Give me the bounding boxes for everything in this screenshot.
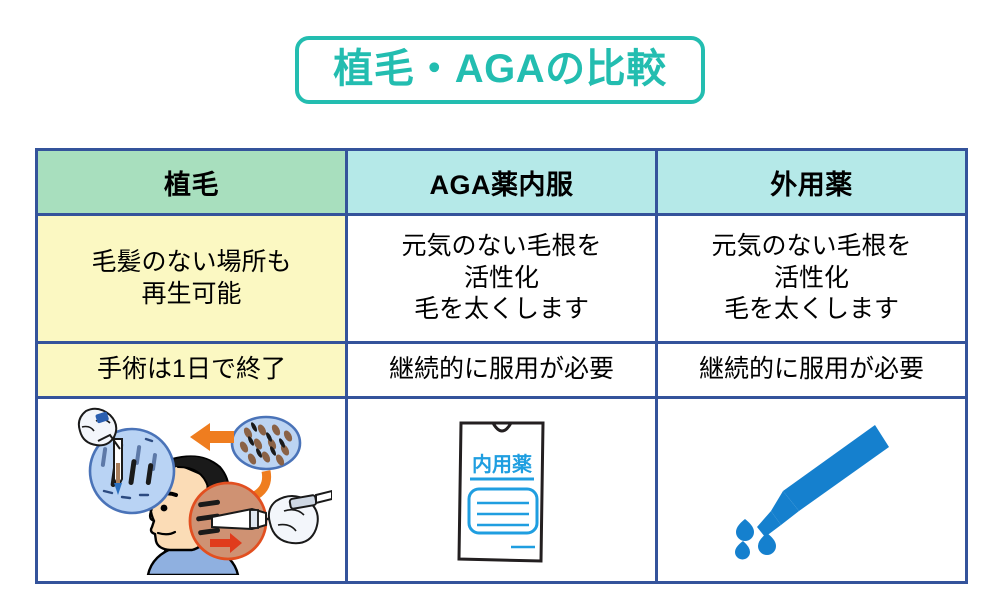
column-header-topical: 外用薬 (657, 150, 967, 215)
cell-line: 再生可能 (38, 279, 345, 311)
table-row-illustrations: 内用薬 (37, 398, 967, 583)
cell-line: 元気のない毛根を (658, 231, 965, 263)
column-header-shokumou: 植毛 (37, 150, 347, 215)
cell-shokumou-illustration (37, 398, 347, 583)
transfer-arrow-left (190, 423, 234, 451)
comparison-table-container: 植毛 AGA薬内服 外用薬 毛髪のない場所も 再生可能 元気のない毛根を 活性化 (35, 148, 965, 584)
envelope-label-text: 内用薬 (472, 452, 532, 476)
table-row: 毛髪のない場所も 再生可能 元気のない毛根を 活性化 毛を太くします 元気のない… (37, 215, 967, 343)
cell-shokumou-duration: 手術は1日で終了 (37, 343, 347, 398)
cell-line: 活性化 (348, 263, 655, 295)
hair-transplant-illustration (38, 399, 345, 581)
donor-graft-circle (232, 417, 300, 469)
gloved-hand-implanter (268, 491, 331, 543)
topical-dropper-icon (727, 415, 897, 565)
cell-line: 活性化 (658, 263, 965, 295)
page-title-box: 植毛・AGAの比較 (295, 36, 704, 104)
cell-line: 元気のない毛根を (348, 231, 655, 263)
cell-shokumou-effect: 毛髪のない場所も 再生可能 (37, 215, 347, 343)
table-row: 手術は1日で終了 継続的に服用が必要 継続的に服用が必要 (37, 343, 967, 398)
hair-transplant-icon (52, 405, 332, 575)
medicine-envelope-icon: 内用薬 (437, 409, 567, 571)
cell-topical-effect: 元気のない毛根を 活性化 毛を太くします (657, 215, 967, 343)
cell-line: 毛髪のない場所も (38, 247, 345, 279)
column-header-aga-oral: AGA薬内服 (347, 150, 657, 215)
cell-aga-oral-duration: 継続的に服用が必要 (347, 343, 657, 398)
table-header-row: 植毛 AGA薬内服 外用薬 (37, 150, 967, 215)
cell-aga-oral-effect: 元気のない毛根を 活性化 毛を太くします (347, 215, 657, 343)
page-title-container: 植毛・AGAの比較 (0, 36, 1000, 104)
cell-topical-illustration (657, 398, 967, 583)
page-title: 植毛・AGAの比較 (333, 49, 666, 89)
cell-line: 毛を太くします (348, 294, 655, 326)
medicine-envelope-illustration: 内用薬 (348, 399, 655, 581)
cell-topical-duration: 継続的に服用が必要 (657, 343, 967, 398)
topical-dropper-illustration (658, 399, 965, 581)
cell-line: 毛を太くします (658, 294, 965, 326)
comparison-table: 植毛 AGA薬内服 外用薬 毛髪のない場所も 再生可能 元気のない毛根を 活性化 (35, 148, 968, 584)
cell-aga-oral-illustration: 内用薬 (347, 398, 657, 583)
